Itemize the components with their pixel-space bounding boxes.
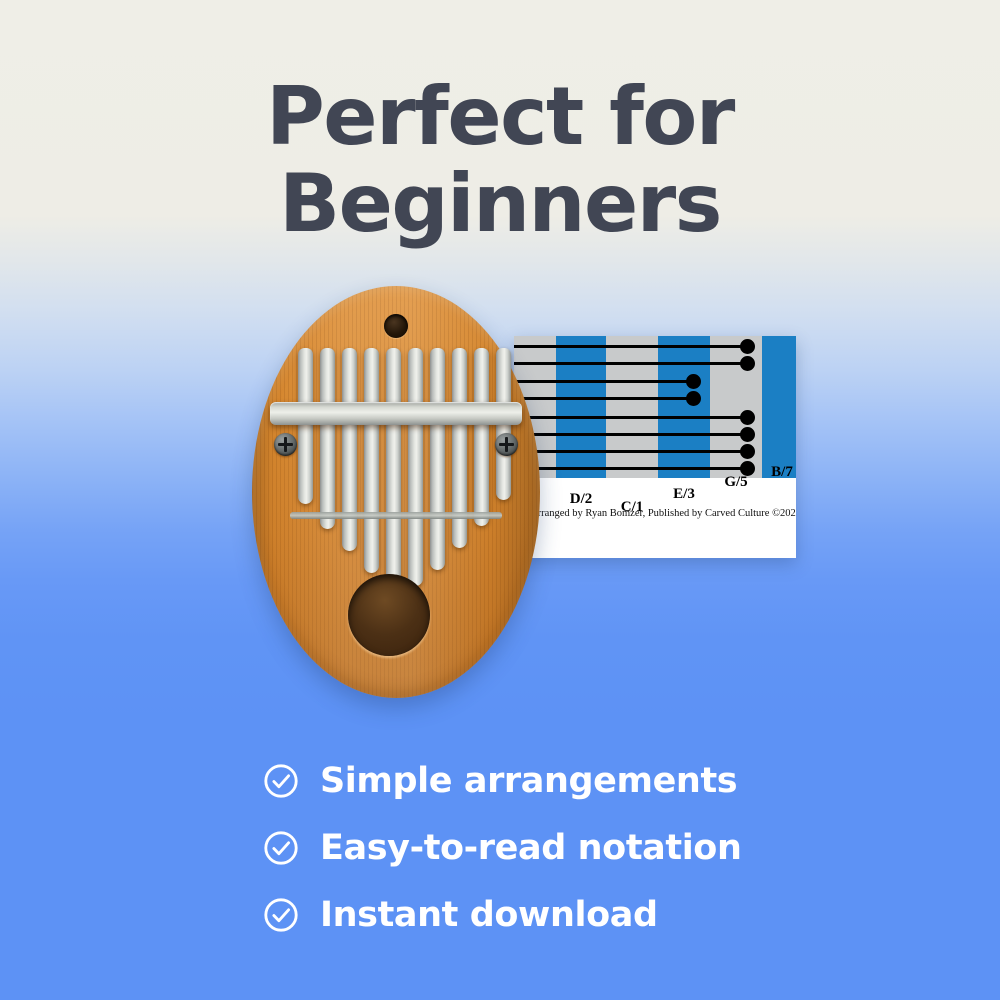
note-row-line — [514, 450, 744, 453]
feature-item: Easy-to-read notation — [262, 817, 882, 879]
note-row-line — [514, 345, 744, 348]
note-head-dot — [740, 410, 755, 425]
notation-column-D-2: D/2 — [556, 336, 606, 478]
page-title-line-2: Beginners — [0, 165, 1000, 243]
notation-column-G-5: G/5 — [710, 336, 762, 478]
feature-label: Simple arrangements — [320, 761, 737, 801]
kalimba-top-sound-hole-icon — [384, 314, 408, 338]
page-title: Perfect for Beginners — [0, 78, 1000, 244]
notation-column-E-3: E/3 — [658, 336, 710, 478]
note-head-dot — [740, 461, 755, 476]
check-circle-icon — [262, 762, 300, 800]
note-row-line — [514, 362, 744, 365]
note-row-line — [514, 397, 690, 400]
note-head-dot — [740, 444, 755, 459]
kalimba-tine — [408, 348, 423, 586]
feature-item: Instant download — [262, 884, 882, 946]
note-row-line — [514, 416, 744, 419]
note-head-dot — [686, 391, 701, 406]
kalimba-bottom-sound-hole — [348, 574, 430, 656]
note-row-line — [514, 433, 744, 436]
note-head-dot — [686, 374, 701, 389]
notation-column-label: B/7 — [771, 464, 793, 481]
kalimba-screw-left — [274, 433, 297, 456]
kalimba-instrument — [252, 286, 540, 698]
kalimba-tine — [298, 348, 313, 504]
notation-column-label: G/5 — [724, 474, 747, 491]
kalimba-rail-bar — [290, 512, 502, 519]
page-title-line-1: Perfect for — [0, 78, 1000, 156]
feature-item: Simple arrangements — [262, 750, 882, 812]
notation-card-inner: F/4D/2C/1E/3G/5B/7 Arranged by Ryan Bomz… — [514, 336, 796, 558]
credit-line: Arranged by Ryan Bomzer, Published by Ca… — [530, 508, 796, 519]
kalimba-tine — [430, 348, 445, 570]
notation-column-C-1: C/1 — [606, 336, 658, 478]
notation-card: F/4D/2C/1E/3G/5B/7 Arranged by Ryan Bomz… — [514, 336, 796, 558]
notation-column-B-7: B/7 — [762, 336, 796, 478]
kalimba-tine — [342, 348, 357, 551]
kalimba-tine — [386, 348, 401, 588]
kalimba-tine — [320, 348, 335, 529]
note-head-dot — [740, 356, 755, 371]
note-head-dot — [740, 339, 755, 354]
check-circle-icon — [262, 829, 300, 867]
note-head-dot — [740, 427, 755, 442]
kalimba-tine — [474, 348, 489, 526]
kalimba-screw-right — [495, 433, 518, 456]
feature-label: Easy-to-read notation — [320, 828, 741, 868]
check-circle-icon — [262, 896, 300, 934]
notation-column-label: E/3 — [673, 486, 695, 503]
note-row-line — [514, 380, 690, 383]
feature-label: Instant download — [320, 895, 658, 935]
poster-canvas: Perfect for Beginners F/4D/2C/1E/3G/5B/7… — [0, 0, 1000, 1000]
notation-column-label: D/2 — [570, 491, 593, 508]
kalimba-bridge-bar — [270, 402, 522, 425]
feature-list: Simple arrangementsEasy-to-read notation… — [262, 750, 882, 951]
note-row-line — [514, 467, 744, 470]
kalimba-tine — [364, 348, 379, 573]
